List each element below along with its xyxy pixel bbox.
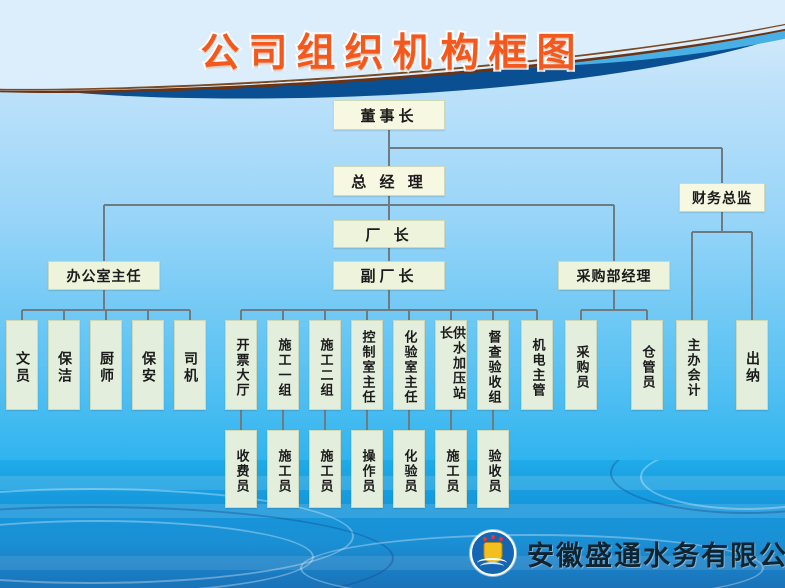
node-cashier[interactable]: 出纳 — [736, 320, 768, 410]
node-control-room-head[interactable]: 控制室主任 — [351, 320, 383, 410]
node-clerk[interactable]: 文员 — [6, 320, 38, 410]
node-chief-accountant[interactable]: 主办会计 — [676, 320, 708, 410]
node-construction-worker-1[interactable]: 施工员 — [267, 430, 299, 508]
node-finance-director[interactable]: 财务总监 — [679, 183, 765, 212]
node-warehouse-keeper[interactable]: 仓管员 — [631, 320, 663, 410]
org-chart-poster: 公司组织机构框图 — [0, 0, 785, 588]
node-lab-technician[interactable]: 化验员 — [393, 430, 425, 508]
water-company-seal-icon — [470, 530, 516, 576]
node-cook[interactable]: 厨师 — [90, 320, 122, 410]
node-acceptance-inspector[interactable]: 验收员 — [477, 430, 509, 508]
node-mechanical-electrical-head[interactable]: 机电主管 — [521, 320, 553, 410]
org-chart-nodes: 董事长 总 经 理 财务总监 厂 长 办公室主任 副厂长 采购部经理 文员 保洁… — [0, 0, 785, 588]
node-inspection-group[interactable]: 督查验收组 — [477, 320, 509, 410]
node-operator[interactable]: 操作员 — [351, 430, 383, 508]
node-security[interactable]: 保安 — [132, 320, 164, 410]
node-construction-worker-3[interactable]: 施工员 — [435, 430, 467, 508]
node-buyer[interactable]: 采购员 — [565, 320, 597, 410]
node-chairman[interactable]: 董事长 — [333, 100, 445, 130]
node-construction-worker-2[interactable]: 施工员 — [309, 430, 341, 508]
node-deputy-plant-director[interactable]: 副厂长 — [333, 261, 445, 290]
node-pump-station-head[interactable]: 供水加压站长 — [435, 320, 467, 410]
node-lab-head[interactable]: 化验室主任 — [393, 320, 425, 410]
node-purchasing-manager[interactable]: 采购部经理 — [558, 261, 670, 290]
node-office-director[interactable]: 办公室主任 — [48, 261, 160, 290]
node-general-manager[interactable]: 总 经 理 — [333, 166, 445, 196]
node-driver[interactable]: 司机 — [174, 320, 206, 410]
company-name: 安徽盛通水务有限公司 — [527, 534, 785, 573]
company-footer: 安徽盛通水务有限公司 — [470, 528, 785, 578]
node-fee-collector[interactable]: 收费员 — [225, 430, 257, 508]
node-billing-hall[interactable]: 开票大厅 — [225, 320, 257, 410]
node-construction-team-2[interactable]: 施工二组 — [309, 320, 341, 410]
node-cleaner[interactable]: 保洁 — [48, 320, 80, 410]
node-construction-team-1[interactable]: 施工一组 — [267, 320, 299, 410]
page-title: 公司组织机构框图 — [0, 22, 785, 78]
node-plant-director[interactable]: 厂 长 — [333, 220, 445, 248]
